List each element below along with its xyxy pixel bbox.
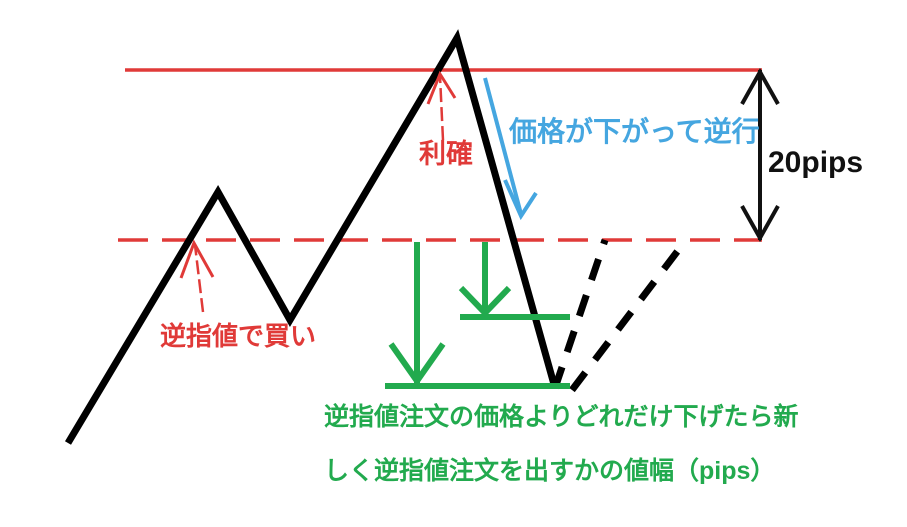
take-profit-label: 利確	[419, 141, 473, 168]
stop-buy-label: 逆指値で買い	[160, 323, 316, 349]
price-falls-arrow	[485, 78, 536, 216]
trail-gap-arrow-large	[391, 242, 443, 384]
trail-gap-arrow-small	[461, 242, 509, 315]
trailing-stop-diagram	[0, 0, 907, 527]
price-falls-reverse-label: 価格が下がって逆行	[509, 118, 760, 146]
trail-note-line-1: 逆指値注文の価格よりどれだけ下げたら新	[324, 405, 799, 430]
pips-measure-label: 20pips	[768, 148, 863, 178]
trail-note-line-2: しく逆指値注文を出すかの値幅（pips）	[324, 459, 775, 484]
diagram-canvas: 利確 逆指値で買い 価格が下がって逆行 20pips 逆指値注文の価格よりどれだ…	[0, 0, 907, 527]
projected-path-2	[572, 240, 686, 390]
stop-buy-arrow	[181, 243, 213, 312]
